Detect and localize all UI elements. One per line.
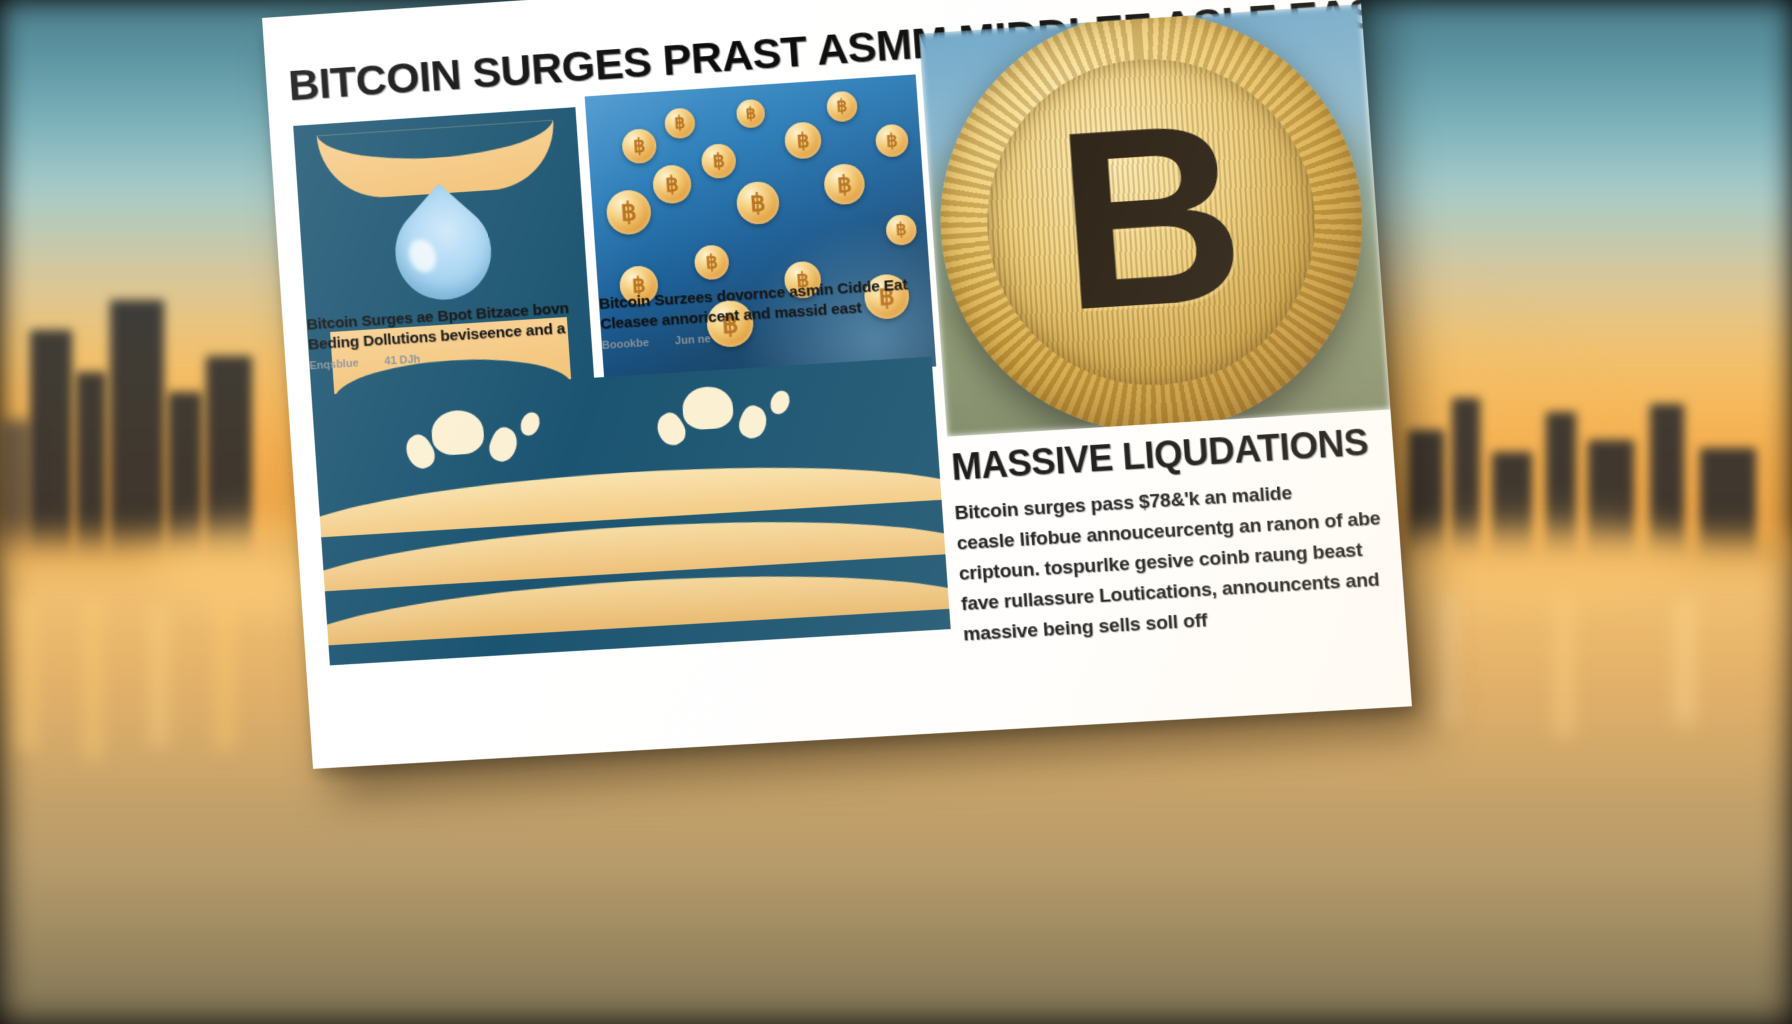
ocean-waves-icon [312, 357, 951, 666]
droplet-shape [376, 183, 511, 319]
bitcoin-coin-icon: ฿ [736, 99, 766, 129]
card-thumbnail[interactable] [312, 357, 951, 666]
splash-shape [517, 409, 543, 438]
splash-shape [767, 388, 793, 417]
bitcoin-coin-icon: ฿ [693, 244, 729, 280]
bitcoin-coin-icon: ฿ [621, 128, 657, 164]
card-meta-time: Jun ne [675, 333, 711, 347]
splash-shape [430, 409, 485, 456]
bitcoin-coin-icon: ฿ [652, 164, 693, 205]
bitcoin-coin-icon: ฿ [664, 107, 696, 139]
bitcoin-coin-icon: ฿ [605, 189, 652, 236]
bitcoin-coin-icon: ฿ [784, 121, 823, 160]
bitcoin-coin-icon: ฿ [823, 163, 866, 206]
card-waves[interactable] [312, 357, 951, 666]
bitcoin-coin-icon: ฿ [875, 123, 910, 157]
card-water-drop[interactable] [293, 107, 596, 425]
bitcoin-symbol: B [1050, 85, 1251, 349]
feature-body-line1-suffix: an malide [1199, 483, 1293, 510]
card-meta-time: 41 DJh [384, 353, 421, 367]
splash-shape [485, 424, 523, 466]
feature-hero-image[interactable]: B [919, 4, 1391, 437]
bitcoin-coin-icon: ฿ [735, 180, 780, 225]
feature-body: Bitcoin surges pass $78&'k an malide cea… [954, 473, 1392, 650]
splash-shape [681, 385, 734, 430]
bitcoin-coin-icon: ฿ [701, 143, 737, 179]
news-page: BITCOIN SURGES PRAST ASMM MIDDLEE ASLE E… [262, 0, 1412, 769]
splash-shape [735, 402, 772, 442]
bitcoin-price: $78&'k [1138, 488, 1200, 513]
bitcoin-coin-icon: ฿ [826, 91, 858, 123]
coin-face: B [976, 48, 1327, 395]
